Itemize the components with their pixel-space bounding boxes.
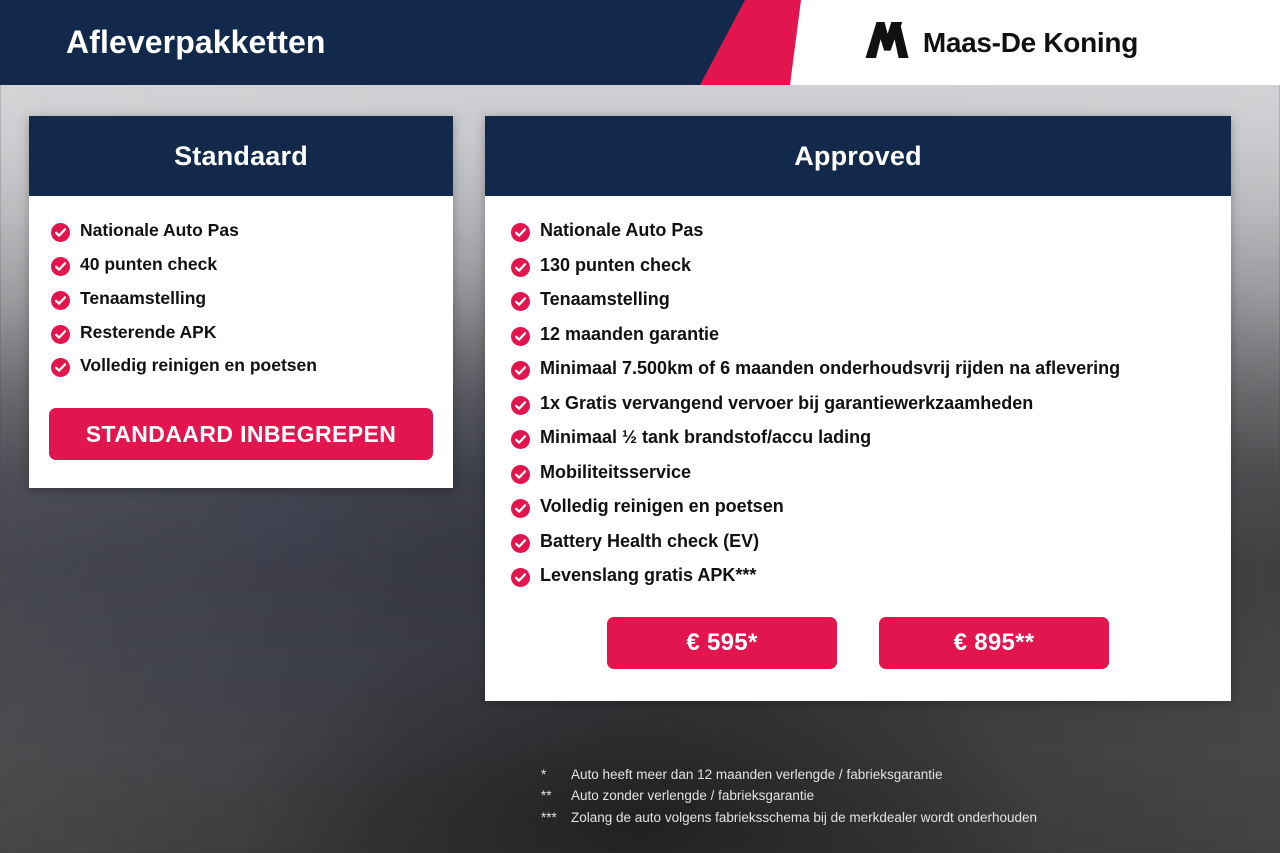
list-item: 1x Gratis vervangend vervoer bij garanti… [485,391,1231,417]
feature-label: Tenaamstelling [540,287,670,313]
price-button-895[interactable]: € 895** [879,617,1109,669]
card-header-approved: Approved [485,116,1231,196]
feature-label: 40 punten check [80,252,217,277]
check-circle-icon [511,396,530,415]
card-title-standaard: Standaard [174,141,308,172]
list-item: Volledig reinigen en poetsen [485,494,1231,520]
footnote-marker: ** [541,785,571,806]
feature-label: Nationale Auto Pas [80,218,239,243]
brand-lockup: Maas-De Koning [864,0,1138,85]
feature-label: Battery Health check (EV) [540,529,759,555]
footnote-marker: * [541,764,571,785]
list-item: Battery Health check (EV) [485,529,1231,555]
footnotes: * Auto heeft meer dan 12 maanden verleng… [541,764,1037,828]
list-item: Nationale Auto Pas [485,218,1231,244]
feature-label: Levenslang gratis APK*** [540,563,756,589]
list-item: 130 punten check [485,253,1231,279]
card-header-standaard: Standaard [29,116,453,196]
list-item: Mobiliteitsservice [485,460,1231,486]
check-circle-icon [51,325,70,344]
list-item: Resterende APK [29,320,453,345]
check-circle-icon [511,499,530,518]
list-item: Minimaal ½ tank brandstof/accu lading [485,425,1231,451]
list-item: Tenaamstelling [485,287,1231,313]
check-circle-icon [511,534,530,553]
brand-name: Maas-De Koning [923,27,1138,59]
footnote-text: Zolang de auto volgens fabrieksschema bi… [571,807,1037,828]
check-circle-icon [51,257,70,276]
check-circle-icon [51,291,70,310]
card-title-approved: Approved [794,141,922,172]
feature-label: 130 punten check [540,253,691,279]
footnote-row: * Auto heeft meer dan 12 maanden verleng… [541,764,1037,785]
list-item: Minimaal 7.500km of 6 maanden onderhouds… [485,356,1231,382]
standaard-inbegrepen-button[interactable]: STANDAARD INBEGREPEN [49,408,433,460]
check-circle-icon [511,258,530,277]
footnote-text: Auto heeft meer dan 12 maanden verlengde… [571,764,943,785]
package-card-standaard: Standaard Nationale Auto Pas [29,116,453,488]
check-circle-icon [511,430,530,449]
feature-list-approved: Nationale Auto Pas 130 punten check [485,218,1231,589]
check-circle-icon [511,223,530,242]
footnote-text: Auto zonder verlengde / fabrieksgarantie [571,785,814,806]
list-item: Tenaamstelling [29,286,453,311]
package-card-approved: Approved Nationale Auto Pas [485,116,1231,701]
maas-de-koning-m-logo-icon [864,20,910,65]
check-circle-icon [511,292,530,311]
footnote-marker: *** [541,807,571,828]
check-circle-icon [511,568,530,587]
check-circle-icon [511,327,530,346]
page-title: Afleverpakketten [66,0,326,85]
feature-label: Resterende APK [80,320,216,345]
list-item: Volledig reinigen en poetsen [29,353,453,378]
feature-label: 1x Gratis vervangend vervoer bij garanti… [540,391,1033,417]
card-body-standaard: Nationale Auto Pas 40 punten check [29,196,453,460]
feature-label: Volledig reinigen en poetsen [80,353,317,378]
feature-list-standaard: Nationale Auto Pas 40 punten check [29,218,453,378]
page-banner: Afleverpakketten Maas-De Koning [0,0,1280,85]
list-item: 40 punten check [29,252,453,277]
list-item: 12 maanden garantie [485,322,1231,348]
check-circle-icon [511,361,530,380]
check-circle-icon [511,465,530,484]
list-item: Levenslang gratis APK*** [485,563,1231,589]
price-button-595[interactable]: € 595* [607,617,837,669]
feature-label: Tenaamstelling [80,286,206,311]
card-body-approved: Nationale Auto Pas 130 punten check [485,196,1231,701]
feature-label: Mobiliteitsservice [540,460,691,486]
feature-label: Volledig reinigen en poetsen [540,494,784,520]
feature-label: 12 maanden garantie [540,322,719,348]
list-item: Nationale Auto Pas [29,218,453,243]
feature-label: Nationale Auto Pas [540,218,703,244]
footnote-row: *** Zolang de auto volgens fabrieksschem… [541,807,1037,828]
price-button-row: € 595* € 895** [485,617,1231,701]
check-circle-icon [51,223,70,242]
footnote-row: ** Auto zonder verlengde / fabrieksgaran… [541,785,1037,806]
feature-label: Minimaal ½ tank brandstof/accu lading [540,425,871,451]
check-circle-icon [51,358,70,377]
feature-label: Minimaal 7.500km of 6 maanden onderhouds… [540,356,1120,382]
